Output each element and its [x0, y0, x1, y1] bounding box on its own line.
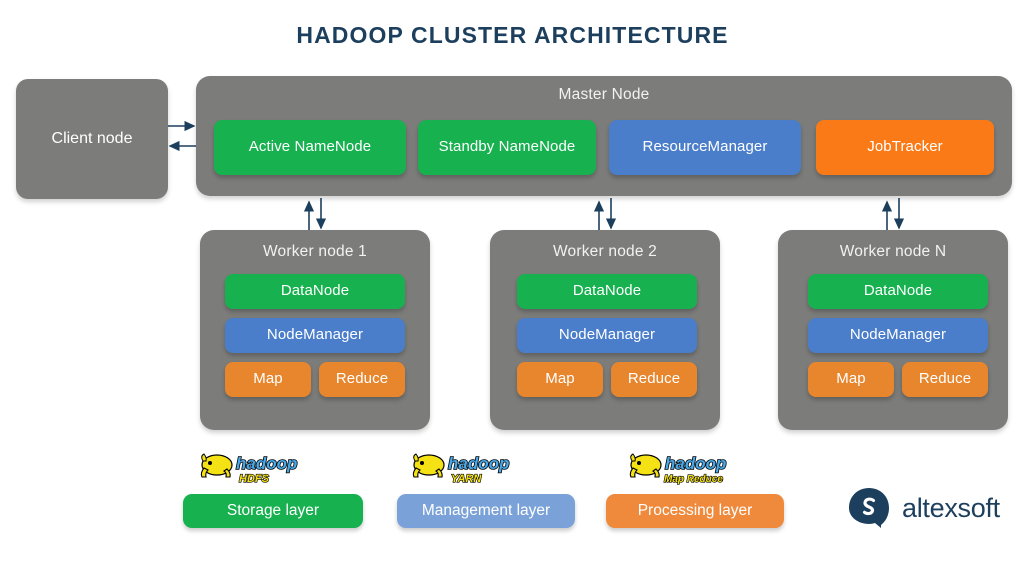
- worker-node-2-box: Worker node 2 DataNode NodeManager Map R…: [490, 230, 720, 430]
- service-active-namenode: Active NameNode: [214, 120, 406, 175]
- master-workerN-arrows: [884, 196, 906, 234]
- hadoop-mapreduce-logo-icon: hadoop Map Reduce: [624, 452, 766, 486]
- service-standby-namenode: Standby NameNode: [418, 120, 596, 175]
- worker-nodemanager: NodeManager: [808, 318, 988, 353]
- client-node-box: Client node: [16, 79, 168, 199]
- worker-map: Map: [808, 362, 894, 397]
- client-node-label: Client node: [16, 130, 168, 148]
- hadoop-hdfs-logo-icon: hadoop HDFS: [195, 452, 337, 486]
- worker-datanode: DataNode: [808, 274, 988, 309]
- worker-reduce: Reduce: [902, 362, 988, 397]
- legend-label-management: Management layer: [397, 494, 575, 528]
- diagram-canvas: HADOOP CLUSTER ARCHITECTURE Client node …: [0, 0, 1025, 567]
- altexsoft-wordmark: altexsoft: [902, 493, 1000, 524]
- master-node-box: Master Node Active NameNode Standby Name…: [196, 76, 1012, 196]
- worker-map: Map: [225, 362, 311, 397]
- worker-node-title: Worker node 2: [490, 243, 720, 261]
- worker-nodemanager: NodeManager: [517, 318, 697, 353]
- service-resourcemanager: ResourceManager: [609, 120, 801, 175]
- page-title: HADOOP CLUSTER ARCHITECTURE: [0, 22, 1025, 49]
- hadoop-sublabel: HDFS: [239, 473, 270, 485]
- hadoop-sublabel: Map Reduce: [664, 474, 723, 485]
- hadoop-wordmark: hadoop: [236, 454, 297, 473]
- worker-node-title: Worker node 1: [200, 243, 430, 261]
- hadoop-yarn-logo-icon: hadoop YARN: [407, 452, 549, 486]
- hadoop-sublabel: YARN: [451, 473, 482, 485]
- master-worker1-arrows: [306, 196, 328, 234]
- worker-nodemanager: NodeManager: [225, 318, 405, 353]
- worker-map: Map: [517, 362, 603, 397]
- master-worker2-arrows: [596, 196, 618, 234]
- altexsoft-logo: altexsoft: [848, 487, 1000, 529]
- worker-reduce: Reduce: [319, 362, 405, 397]
- worker-datanode: DataNode: [225, 274, 405, 309]
- worker-reduce: Reduce: [611, 362, 697, 397]
- legend-label-storage: Storage layer: [183, 494, 363, 528]
- hadoop-wordmark: hadoop: [448, 454, 509, 473]
- master-node-title: Master Node: [196, 86, 1012, 104]
- worker-node-1-box: Worker node 1 DataNode NodeManager Map R…: [200, 230, 430, 430]
- worker-node-title: Worker node N: [778, 243, 1008, 261]
- service-jobtracker: JobTracker: [816, 120, 994, 175]
- worker-datanode: DataNode: [517, 274, 697, 309]
- legend-label-processing: Processing layer: [606, 494, 784, 528]
- hadoop-wordmark: hadoop: [665, 454, 726, 473]
- worker-node-n-box: Worker node N DataNode NodeManager Map R…: [778, 230, 1008, 430]
- altexsoft-mark-icon: [848, 487, 890, 529]
